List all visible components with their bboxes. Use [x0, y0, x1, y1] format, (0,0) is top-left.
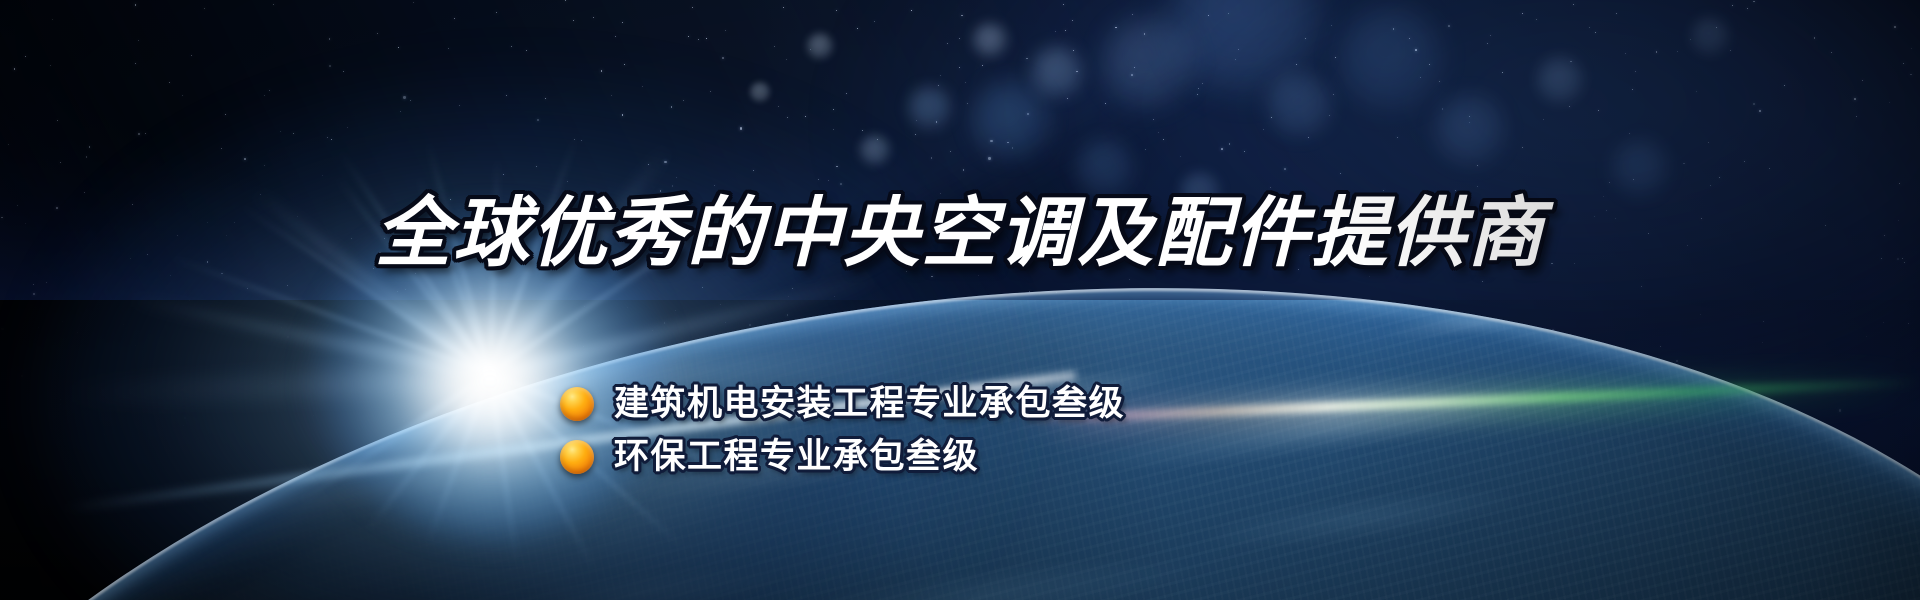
list-item: 建筑机电安装工程专业承包叁级 — [560, 386, 1125, 421]
list-item-label: 建筑机电安装工程专业承包叁级 — [614, 386, 1125, 421]
orange-sphere-bullet-icon — [560, 440, 594, 474]
list-item-label: 环保工程专业承包叁级 — [614, 439, 979, 474]
hero-banner: 全球优秀的中央空调及配件提供商 建筑机电安装工程专业承包叁级 环保工程专业承包叁… — [0, 0, 1920, 600]
orange-sphere-bullet-icon — [560, 387, 594, 421]
page-title: 全球优秀的中央空调及配件提供商 — [0, 196, 1920, 272]
feature-list: 建筑机电安装工程专业承包叁级 环保工程专业承包叁级 — [560, 386, 1125, 474]
banner-content: 全球优秀的中央空调及配件提供商 建筑机电安装工程专业承包叁级 环保工程专业承包叁… — [0, 0, 1920, 600]
list-item: 环保工程专业承包叁级 — [560, 439, 1125, 474]
